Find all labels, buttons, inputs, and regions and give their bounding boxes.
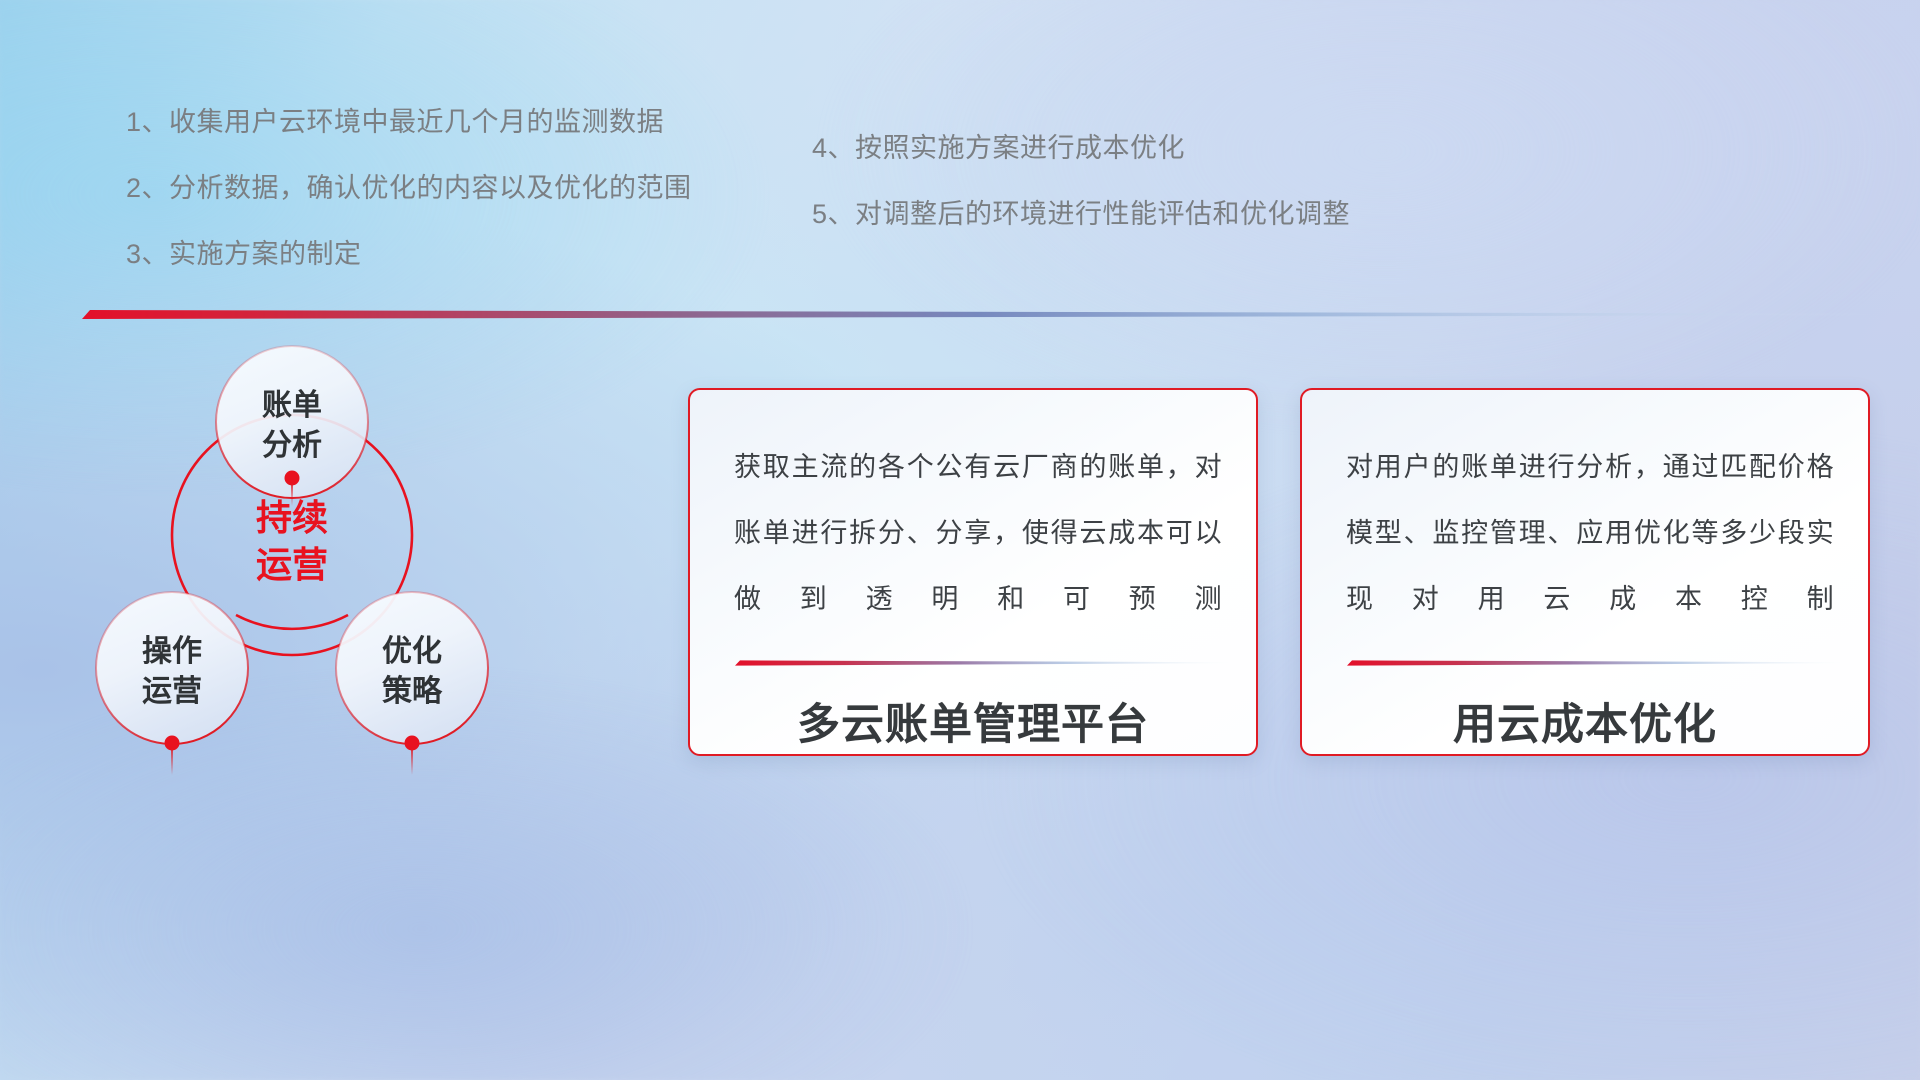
- venn-node-optimization-strategy-line2: 策略: [382, 674, 443, 708]
- card-multi-cloud-billing-body: 获取主流的各个公有云厂商的账单，对账单进行拆分、分享，使得云成本可以做到透明和可…: [734, 434, 1222, 632]
- venn-node-billing-analysis-line2: 分析: [262, 429, 322, 462]
- venn-dot-bottom-right: [405, 736, 420, 751]
- venn-main-ring-overlay: [236, 615, 348, 629]
- step-item-4: 4、按照实施方案进行成本优化: [812, 126, 1350, 165]
- card-cloud-cost-optimization-title: 用云成本优化: [1302, 690, 1868, 752]
- step-item-1: 1、收集用户云环境中最近几个月的监测数据: [126, 100, 692, 139]
- venn-tail-bottom-right: [411, 749, 413, 775]
- continuous-operation-venn-diagram: 账单 分析 操作 运营 优化 策略 持续 运营: [60, 285, 580, 795]
- venn-node-optimization-strategy: 优化 策略: [336, 592, 488, 744]
- venn-dot-top: [285, 471, 300, 486]
- steps-left-column: 1、收集用户云环境中最近几个月的监测数据 2、分析数据，确认优化的内容以及优化的…: [126, 100, 692, 298]
- step-item-3: 3、实施方案的制定: [126, 232, 692, 271]
- venn-center-label-line1: 持续: [256, 497, 328, 538]
- card-multi-cloud-billing[interactable]: 获取主流的各个公有云厂商的账单，对账单进行拆分、分享，使得云成本可以做到透明和可…: [688, 388, 1258, 756]
- venn-node-operations-line2: 运营: [142, 675, 202, 708]
- venn-node-billing-analysis-line1: 账单: [262, 389, 322, 422]
- card-multi-cloud-billing-divider: [734, 658, 1234, 667]
- steps-right-column: 4、按照实施方案进行成本优化 5、对调整后的环境进行性能评估和优化调整: [812, 126, 1350, 258]
- step-item-2: 2、分析数据，确认优化的内容以及优化的范围: [126, 166, 692, 205]
- venn-dot-bottom-left: [165, 736, 180, 751]
- card-cloud-cost-optimization-divider: [1346, 658, 1846, 667]
- venn-node-operations-line1: 操作: [142, 635, 202, 668]
- step-item-5: 5、对调整后的环境进行性能评估和优化调整: [812, 192, 1350, 231]
- venn-center-label-line2: 运营: [256, 544, 328, 585]
- venn-node-optimization-strategy-line1: 优化: [382, 635, 442, 668]
- venn-node-operations: 操作 运营: [96, 592, 248, 744]
- card-multi-cloud-billing-title: 多云账单管理平台: [690, 690, 1256, 752]
- venn-tail-bottom-left: [171, 749, 173, 775]
- card-cloud-cost-optimization[interactable]: 对用户的账单进行分析，通过匹配价格模型、监控管理、应用优化等多少段实现对用云成本…: [1300, 388, 1870, 756]
- card-cloud-cost-optimization-body: 对用户的账单进行分析，通过匹配价格模型、监控管理、应用优化等多少段实现对用云成本…: [1346, 434, 1834, 632]
